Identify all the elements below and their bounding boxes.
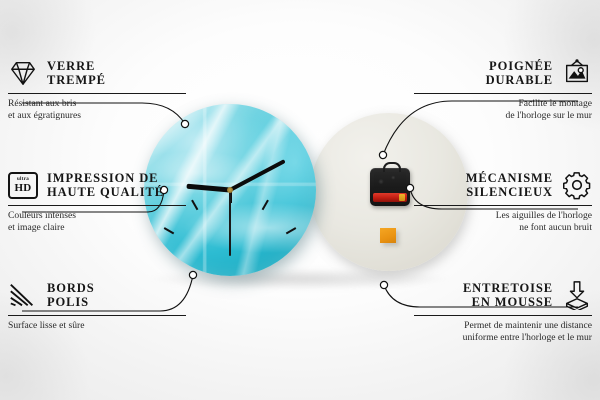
feature-header: BORDS POLIS xyxy=(8,278,186,312)
feature-header: POIGNÉE DURABLE xyxy=(414,56,592,90)
feature-mecanisme-silencieux: MÉCANISME SILENCIEUX Les aiguilles de l'… xyxy=(414,168,592,233)
movement-detail xyxy=(374,172,406,188)
feature-description: Les aiguilles de l'horloge ne font aucun… xyxy=(414,210,592,233)
feature-description: Permet de maintenir une distance uniform… xyxy=(414,320,592,343)
feature-description: Surface lisse et sûre xyxy=(8,320,186,332)
feature-entretoise-en-mousse: ENTRETOISE EN MOUSSE Permet de maintenir… xyxy=(414,278,592,343)
feature-impression-haute-qualite: ultra HD IMPRESSION DE HAUTE QUALITÉ Cou… xyxy=(8,168,186,233)
feature-description: Facilite le montage de l'horloge sur le … xyxy=(414,98,592,121)
feature-title: MÉCANISME SILENCIEUX xyxy=(466,171,553,199)
hanging-picture-frame-icon xyxy=(562,58,592,88)
feature-divider xyxy=(8,93,186,94)
feature-header: VERRE TREMPÉ xyxy=(8,56,186,90)
feature-bords-polis: BORDS POLIS Surface lisse et sûre xyxy=(8,278,186,332)
second-hand xyxy=(229,190,231,256)
feature-description: Résistant aux bris et aux égratignures xyxy=(8,98,186,121)
feature-header: ultra HD IMPRESSION DE HAUTE QUALITÉ xyxy=(8,168,186,202)
gear-icon xyxy=(562,170,592,200)
feature-divider xyxy=(8,205,186,206)
ultra-hd-icon-top-text: ultra xyxy=(17,177,29,182)
battery xyxy=(373,193,407,202)
feature-divider xyxy=(414,93,592,94)
ultra-hd-icon-main-text: HD xyxy=(15,183,32,194)
foam-spacer xyxy=(380,228,396,243)
feature-divider xyxy=(414,315,592,316)
arrow-onto-pad-icon xyxy=(562,280,592,310)
clock-movement xyxy=(370,168,410,206)
feature-verre-trempe: VERRE TREMPÉ Résistant aux bris et aux é… xyxy=(8,56,186,121)
diamond-icon xyxy=(8,58,38,88)
feature-title: VERRE TREMPÉ xyxy=(47,59,106,87)
minute-hand xyxy=(229,159,286,192)
feature-header: MÉCANISME SILENCIEUX xyxy=(414,168,592,202)
feature-title: ENTRETOISE EN MOUSSE xyxy=(463,281,553,309)
diagonal-lines-icon xyxy=(8,280,38,310)
feature-title: POIGNÉE DURABLE xyxy=(486,59,553,87)
feature-divider xyxy=(414,205,592,206)
feature-title: IMPRESSION DE HAUTE QUALITÉ xyxy=(47,171,164,199)
feature-divider xyxy=(8,315,186,316)
feature-poignee-durable: POIGNÉE DURABLE Facilite le montage de l… xyxy=(414,56,592,121)
ultra-hd-icon: ultra HD xyxy=(8,172,38,199)
feature-description: Couleurs intenses et image claire xyxy=(8,210,186,233)
feature-header: ENTRETOISE EN MOUSSE xyxy=(414,278,592,312)
hour-hand xyxy=(186,184,230,193)
feature-title: BORDS POLIS xyxy=(47,281,95,309)
infographic-canvas: VERRE TREMPÉ Résistant aux bris et aux é… xyxy=(0,0,600,400)
center-cap xyxy=(227,187,233,193)
